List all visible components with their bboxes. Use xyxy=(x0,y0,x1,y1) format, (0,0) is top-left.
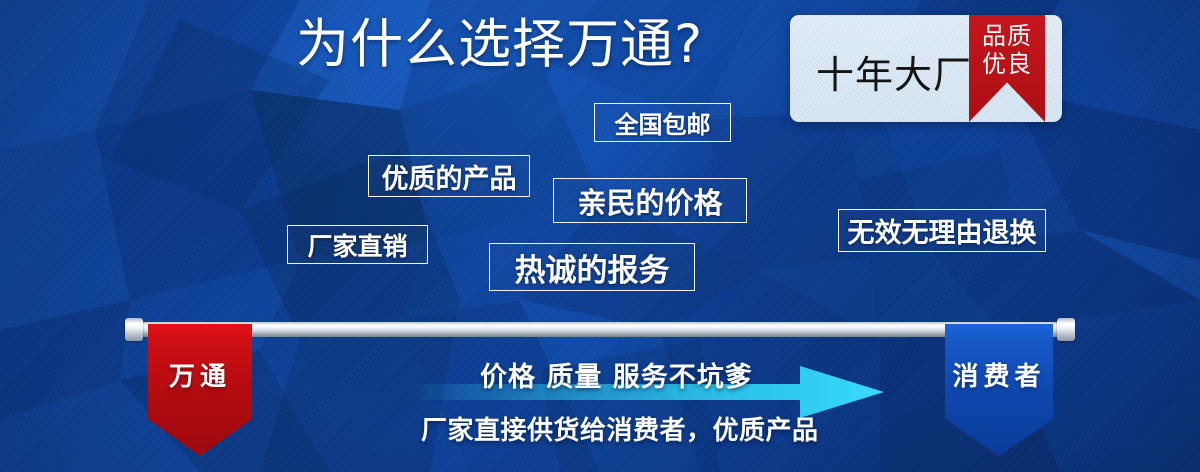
quality-card: 十年大厂 品质 优良 xyxy=(790,15,1062,122)
feature-tag-friendly-price: 亲民的价格 xyxy=(553,178,747,223)
feature-tag-free-return: 无效无理由退换 xyxy=(838,209,1046,252)
promo-banner: 为什么选择万通? 十年大厂 品质 优良 全国包邮 优质的产品 亲民的价格 厂家直… xyxy=(0,0,1200,472)
rod-cap-left xyxy=(125,318,143,341)
feature-tag-quality-product: 优质的产品 xyxy=(368,155,530,197)
hanging-rod xyxy=(137,322,1065,337)
feature-tag-factory-direct: 厂家直销 xyxy=(287,225,428,264)
flag-consumer-label: 消费者 xyxy=(952,356,1045,393)
rod-cap-right xyxy=(1057,318,1075,341)
feature-tag-sincere-service: 热诚的报务 xyxy=(489,243,695,291)
quality-card-title: 十年大厂 xyxy=(816,44,972,99)
ribbon-line-2: 优良 xyxy=(982,50,1032,78)
page-title: 为什么选择万通? xyxy=(296,17,703,73)
feature-tag-nationwide-shipping: 全国包邮 xyxy=(594,103,731,142)
flow-text-line-1: 价格 质量 服务不坑爹 xyxy=(480,355,753,394)
flag-manufacturer-label: 万通 xyxy=(169,356,231,393)
ribbon-line-1: 品质 xyxy=(982,22,1032,50)
flow-text-line-2: 厂家直接供货给消费者，优质产品 xyxy=(421,410,819,447)
